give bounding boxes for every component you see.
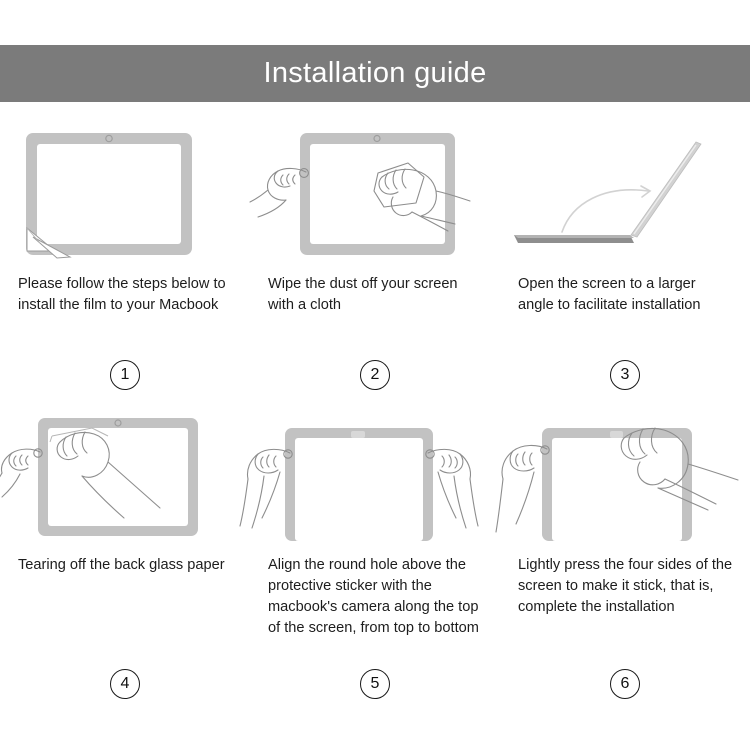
tablet-icon (38, 418, 198, 536)
header-banner: Installation guide (0, 45, 750, 102)
rotation-arrow-icon (562, 186, 650, 232)
step-5-caption: Align the round hole above the protectiv… (250, 541, 500, 667)
left-hand-icon (496, 445, 549, 532)
step-number-badge: 6 (610, 669, 640, 699)
step-3-number-wrap: 3 (500, 360, 750, 406)
step-2-number-wrap: 2 (250, 360, 500, 406)
step-card-5: Align the round hole above the protectiv… (250, 406, 500, 715)
right-hand-icon (426, 449, 478, 528)
step-2-caption: Wipe the dust off your screen with a clo… (250, 260, 500, 358)
left-hand-icon (250, 168, 308, 217)
step-1-number-wrap: 1 (0, 360, 250, 406)
tablet-icon (542, 428, 692, 541)
step-card-1: Please follow the steps below to install… (0, 125, 250, 406)
steps-row-2: Tearing off the back glass paper 4 (0, 406, 750, 715)
step-number-badge: 3 (610, 360, 640, 390)
steps-row-1: Please follow the steps below to install… (0, 125, 750, 406)
step-3-illustration (500, 125, 750, 260)
step-6-illustration (500, 406, 750, 541)
step-1-caption: Please follow the steps below to install… (0, 260, 250, 358)
step-4-caption: Tearing off the back glass paper (0, 541, 250, 667)
step-4-illustration (0, 406, 250, 541)
step-number-badge: 5 (360, 669, 390, 699)
step-5-number-wrap: 5 (250, 669, 500, 715)
step-6-number-wrap: 6 (500, 669, 750, 715)
step-3-caption: Open the screen to a larger angle to fac… (500, 260, 750, 358)
steps-grid: Please follow the steps below to install… (0, 125, 750, 715)
step-5-illustration (250, 406, 500, 541)
step-1-illustration (0, 125, 250, 260)
page-title: Installation guide (263, 59, 486, 88)
tablet-icon (285, 428, 433, 541)
step-card-4: Tearing off the back glass paper 4 (0, 406, 250, 715)
step-number-badge: 4 (110, 669, 140, 699)
step-number-badge: 1 (110, 360, 140, 390)
left-hand-icon (0, 449, 42, 497)
step-4-number-wrap: 4 (0, 669, 250, 715)
laptop-base-icon (514, 235, 634, 243)
step-card-3: Open the screen to a larger angle to fac… (500, 125, 750, 406)
tablet-icon (26, 133, 192, 255)
step-6-caption: Lightly press the four sides of the scre… (500, 541, 750, 667)
step-card-6: Lightly press the four sides of the scre… (500, 406, 750, 715)
step-2-illustration (250, 125, 500, 260)
step-number-badge: 2 (360, 360, 390, 390)
step-card-2: Wipe the dust off your screen with a clo… (250, 125, 500, 406)
